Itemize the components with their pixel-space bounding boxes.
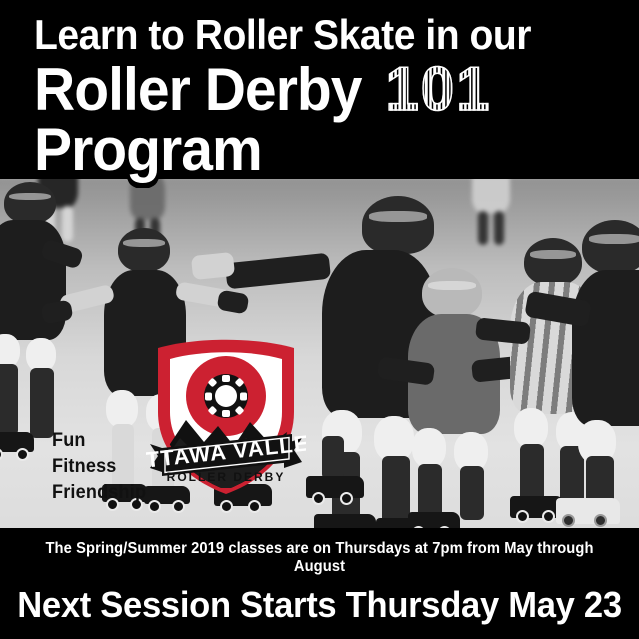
headline-line-3: Program: [34, 122, 584, 177]
headline-block: Learn to Roller Skate in our Roller Derb…: [0, 0, 639, 177]
logo-sub-text: ROLLER DERBY: [167, 470, 286, 484]
values-list: Fun Fitness Friendship: [52, 428, 146, 507]
footer-headline-line: Next Session Starts Thursday May 23: [13, 584, 626, 626]
wheel-hub: [215, 385, 237, 407]
headline-line-2: Roller Derby 101: [34, 61, 584, 118]
value-item-fun: Fun: [52, 428, 146, 454]
headline-line-1: Learn to Roller Skate in our: [34, 16, 572, 55]
skater-crouching: [398, 268, 514, 534]
footer-block: The Spring/Summer 2019 classes are on Th…: [0, 528, 639, 626]
skate-foreground: [306, 436, 376, 516]
value-item-fitness: Fitness: [52, 454, 146, 480]
ottawa-valley-roller-derby-logo: OTTAWA VALLEY ROLLER DERBY: [146, 338, 306, 496]
headline-roller-derby: Roller Derby: [34, 62, 362, 117]
skater-right-edge: [572, 220, 639, 528]
shield-crest-icon: OTTAWA VALLEY ROLLER DERBY: [146, 338, 306, 496]
poster-canvas: Learn to Roller Skate in our Roller Derb…: [0, 0, 639, 639]
value-item-friendship: Friendship: [52, 480, 146, 506]
headline-101: 101: [385, 61, 491, 118]
footer-detail-line: The Spring/Summer 2019 classes are on Th…: [26, 540, 614, 576]
